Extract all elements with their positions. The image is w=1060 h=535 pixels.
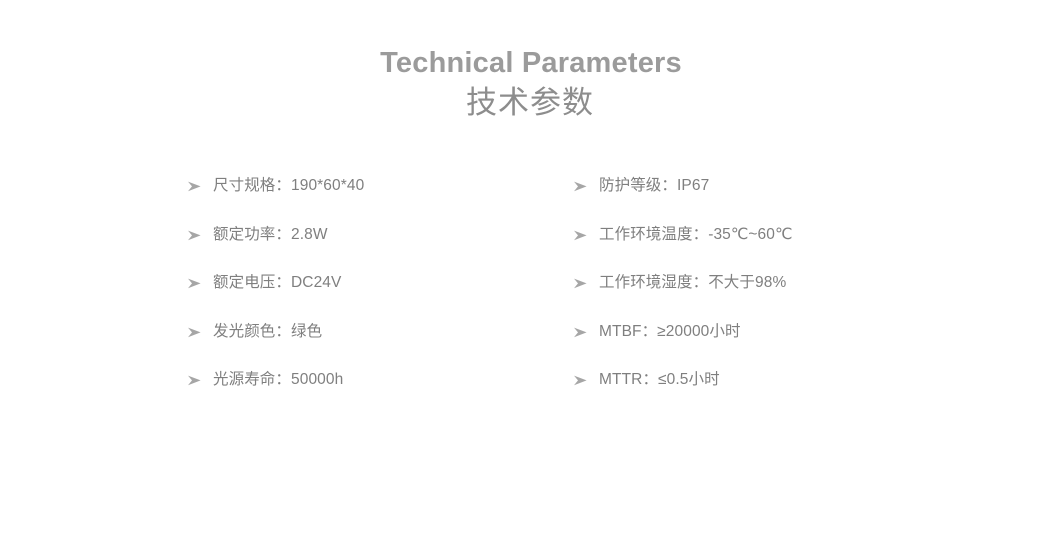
spec-column-left: 尺寸规格：190*60*40 额定功率：2.8W 额定电压：DC24V: [187, 176, 557, 419]
arrow-right-bullet-icon: [573, 176, 599, 192]
arrow-right-bullet-icon: [573, 322, 599, 338]
arrow-right-bullet-icon: [573, 273, 599, 289]
spec-item-light-source-life: 光源寿命：50000h: [187, 370, 557, 419]
arrow-right-bullet-icon: [573, 370, 599, 386]
arrow-right-bullet-icon: [573, 225, 599, 241]
page-heading: Technical Parameters 技术参数: [0, 44, 1060, 124]
spec-item-operating-temperature: 工作环境温度：-35℃~60℃: [573, 225, 993, 274]
spec-text: MTTR：≤0.5小时: [599, 370, 720, 390]
page-title-chinese: 技术参数: [0, 82, 1060, 124]
spec-text: 防护等级：IP67: [599, 176, 709, 196]
spec-text: 光源寿命：50000h: [213, 370, 343, 390]
spec-text: 工作环境湿度：不大于98%: [599, 273, 786, 293]
spec-item-rated-voltage: 额定电压：DC24V: [187, 273, 557, 322]
spec-text: 发光颜色：绿色: [213, 322, 322, 342]
page-title-english: Technical Parameters: [0, 44, 1060, 82]
spec-item-protection-grade: 防护等级：IP67: [573, 176, 993, 225]
spec-item-light-color: 发光颜色：绿色: [187, 322, 557, 371]
spec-text: MTBF：≥20000小时: [599, 322, 741, 342]
spec-item-mttr: MTTR：≤0.5小时: [573, 370, 993, 419]
spec-column-right: 防护等级：IP67 工作环境温度：-35℃~60℃ 工作环境湿度：不大于98%: [573, 176, 993, 419]
arrow-right-bullet-icon: [187, 370, 213, 386]
technical-parameters-page: Technical Parameters 技术参数 尺寸规格：190*60*40: [0, 0, 1060, 535]
arrow-right-bullet-icon: [187, 322, 213, 338]
spec-item-size: 尺寸规格：190*60*40: [187, 176, 557, 225]
arrow-right-bullet-icon: [187, 225, 213, 241]
spec-text: 额定电压：DC24V: [213, 273, 341, 293]
spec-item-rated-power: 额定功率：2.8W: [187, 225, 557, 274]
spec-text: 工作环境温度：-35℃~60℃: [599, 225, 793, 245]
specifications-list: 尺寸规格：190*60*40 额定功率：2.8W 额定电压：DC24V: [0, 176, 1060, 406]
spec-text: 尺寸规格：190*60*40: [213, 176, 364, 196]
spec-text: 额定功率：2.8W: [213, 225, 328, 245]
spec-item-operating-humidity: 工作环境湿度：不大于98%: [573, 273, 993, 322]
arrow-right-bullet-icon: [187, 273, 213, 289]
arrow-right-bullet-icon: [187, 176, 213, 192]
spec-item-mtbf: MTBF：≥20000小时: [573, 322, 993, 371]
